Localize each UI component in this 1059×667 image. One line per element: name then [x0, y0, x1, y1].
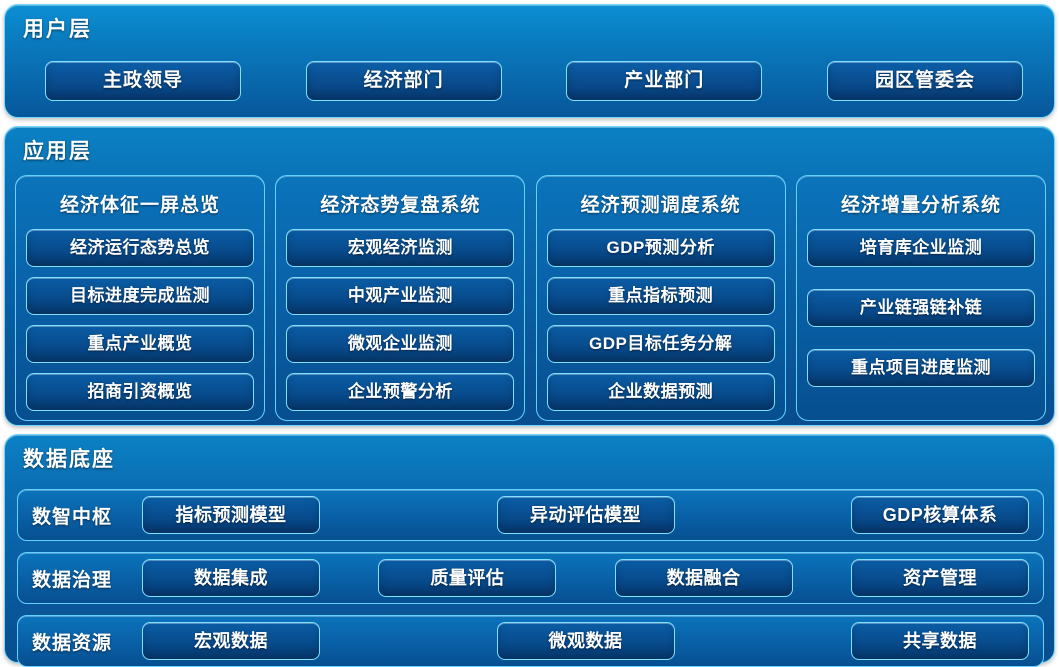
user-role-chip[interactable]: 产业部门	[566, 61, 762, 101]
app-feature-chip[interactable]: 经济运行态势总览	[26, 229, 254, 267]
app-column-increment-system: 经济增量分析系统 培育库企业监测 产业链强链补链 重点项目进度监测	[796, 175, 1046, 421]
layer-data-foundation-title: 数据底座	[23, 443, 115, 473]
data-module-chip[interactable]: 共享数据	[851, 622, 1029, 660]
layer-user-items: 主政领导 经济部门 产业部门 园区管委会	[45, 61, 1023, 101]
app-column-title: 经济态势复盘系统	[286, 190, 514, 217]
data-module-chip[interactable]: 质量评估	[378, 559, 556, 597]
data-module-chip[interactable]: 异动评估模型	[497, 496, 675, 534]
user-role-chip[interactable]: 经济部门	[306, 61, 502, 101]
app-feature-chip[interactable]: 重点产业概览	[26, 325, 254, 363]
app-feature-chip[interactable]: 中观产业监测	[286, 277, 514, 315]
layer-user-title: 用户层	[23, 13, 92, 43]
data-module-chip[interactable]: 微观数据	[497, 622, 675, 660]
data-row-resources: 数据资源 宏观数据 微观数据 共享数据	[17, 615, 1044, 667]
app-feature-chip[interactable]: 重点项目进度监测	[807, 349, 1035, 387]
app-feature-chip[interactable]: 招商引资概览	[26, 373, 254, 411]
app-feature-chip[interactable]: GDP预测分析	[547, 229, 775, 267]
app-feature-chip[interactable]: GDP目标任务分解	[547, 325, 775, 363]
layer-user: 用户层 主政领导 经济部门 产业部门 园区管委会	[4, 4, 1055, 118]
app-column-forecast-system: 经济预测调度系统 GDP预测分析 重点指标预测 GDP目标任务分解 企业数据预测	[536, 175, 786, 421]
data-module-chip[interactable]: 资产管理	[851, 559, 1029, 597]
data-module-chip[interactable]: 宏观数据	[142, 622, 320, 660]
app-column-title: 经济体征一屏总览	[26, 190, 254, 217]
data-row-items: 指标预测模型 异动评估模型 GDP核算体系	[142, 496, 1029, 534]
data-row-items: 数据集成 质量评估 数据融合 资产管理	[142, 559, 1029, 597]
app-feature-chip[interactable]: 培育库企业监测	[807, 229, 1035, 267]
app-column-items: 培育库企业监测 产业链强链补链 重点项目进度监测	[807, 229, 1035, 387]
architecture-diagram: 用户层 主政领导 经济部门 产业部门 园区管委会 应用层 经济体征一屏总览 经济…	[0, 0, 1059, 667]
app-feature-chip[interactable]: 企业数据预测	[547, 373, 775, 411]
app-column-title: 经济增量分析系统	[807, 190, 1035, 217]
data-module-chip[interactable]: 数据集成	[142, 559, 320, 597]
data-row-items: 宏观数据 微观数据 共享数据	[142, 622, 1029, 660]
app-feature-chip[interactable]: 企业预警分析	[286, 373, 514, 411]
app-feature-chip[interactable]: 微观企业监测	[286, 325, 514, 363]
data-module-chip[interactable]: 数据融合	[615, 559, 793, 597]
data-row-hub: 数智中枢 指标预测模型 异动评估模型 GDP核算体系	[17, 489, 1044, 541]
app-feature-chip[interactable]: 宏观经济监测	[286, 229, 514, 267]
data-row-label: 数智中枢	[32, 502, 142, 529]
user-role-chip[interactable]: 园区管委会	[827, 61, 1023, 101]
layer-application: 应用层 经济体征一屏总览 经济运行态势总览 目标进度完成监测 重点产业概览 招商…	[4, 126, 1055, 426]
data-row-label: 数据治理	[32, 565, 142, 592]
user-role-chip[interactable]: 主政领导	[45, 61, 241, 101]
data-module-chip[interactable]: GDP核算体系	[851, 496, 1029, 534]
app-column-items: GDP预测分析 重点指标预测 GDP目标任务分解 企业数据预测	[547, 229, 775, 411]
data-module-chip[interactable]: 指标预测模型	[142, 496, 320, 534]
app-column-review-system: 经济态势复盘系统 宏观经济监测 中观产业监测 微观企业监测 企业预警分析	[275, 175, 525, 421]
data-row-label: 数据资源	[32, 628, 142, 655]
layer-application-title: 应用层	[23, 135, 92, 165]
layer-application-columns: 经济体征一屏总览 经济运行态势总览 目标进度完成监测 重点产业概览 招商引资概览…	[15, 175, 1046, 421]
app-column-overview: 经济体征一屏总览 经济运行态势总览 目标进度完成监测 重点产业概览 招商引资概览	[15, 175, 265, 421]
app-feature-chip[interactable]: 产业链强链补链	[807, 289, 1035, 327]
app-feature-chip[interactable]: 重点指标预测	[547, 277, 775, 315]
app-feature-chip[interactable]: 目标进度完成监测	[26, 277, 254, 315]
app-column-items: 经济运行态势总览 目标进度完成监测 重点产业概览 招商引资概览	[26, 229, 254, 411]
layer-data-foundation: 数据底座 数智中枢 指标预测模型 异动评估模型 GDP核算体系 数据治理 数据集…	[4, 434, 1055, 663]
app-column-title: 经济预测调度系统	[547, 190, 775, 217]
app-column-items: 宏观经济监测 中观产业监测 微观企业监测 企业预警分析	[286, 229, 514, 411]
data-row-governance: 数据治理 数据集成 质量评估 数据融合 资产管理	[17, 552, 1044, 604]
layer-data-rows: 数智中枢 指标预测模型 异动评估模型 GDP核算体系 数据治理 数据集成 质量评…	[17, 489, 1044, 667]
